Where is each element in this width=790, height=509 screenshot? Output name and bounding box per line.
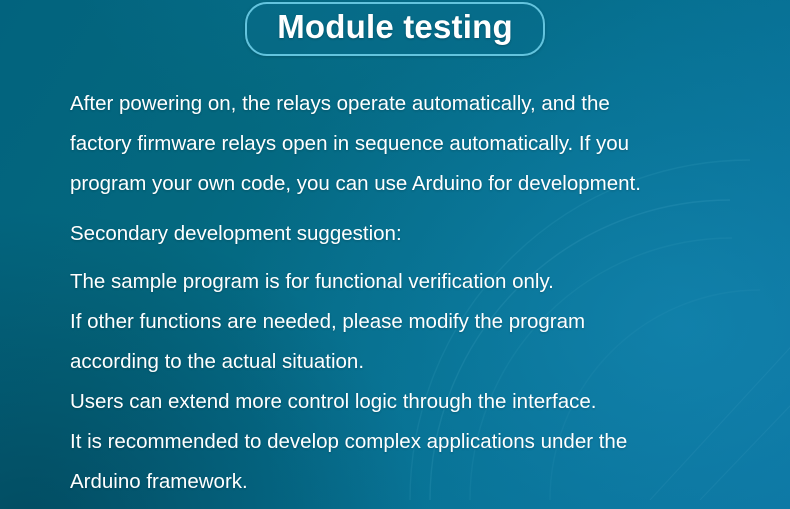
- intro-line-2: factory firmware relays open in sequence…: [70, 124, 738, 164]
- title-label: Module testing: [277, 7, 513, 47]
- slide-root: Module testing After powering on, the re…: [0, 0, 790, 509]
- page-title: Module testing: [0, 2, 790, 56]
- intro-line-1: After powering on, the relays operate au…: [70, 84, 738, 124]
- suggestion-line-3: according to the actual situation.: [70, 342, 750, 382]
- slide-body: After powering on, the relays operate au…: [70, 84, 750, 502]
- suggestion-line-1: The sample program is for functional ver…: [70, 262, 750, 302]
- suggestion-line-6: Arduino framework.: [70, 462, 750, 502]
- intro-line-3: program your own code, you can use Ardui…: [70, 164, 738, 204]
- intro-paragraph: After powering on, the relays operate au…: [70, 84, 738, 204]
- suggestion-line-2: If other functions are needed, please mo…: [70, 302, 750, 342]
- suggestion-list: The sample program is for functional ver…: [70, 262, 750, 502]
- suggestion-line-5: It is recommended to develop complex app…: [70, 422, 750, 462]
- title-badge: Module testing: [245, 2, 545, 56]
- section-heading: Secondary development suggestion:: [70, 214, 750, 254]
- suggestion-line-4: Users can extend more control logic thro…: [70, 382, 750, 422]
- section-heading-label: Secondary development suggestion:: [70, 214, 750, 254]
